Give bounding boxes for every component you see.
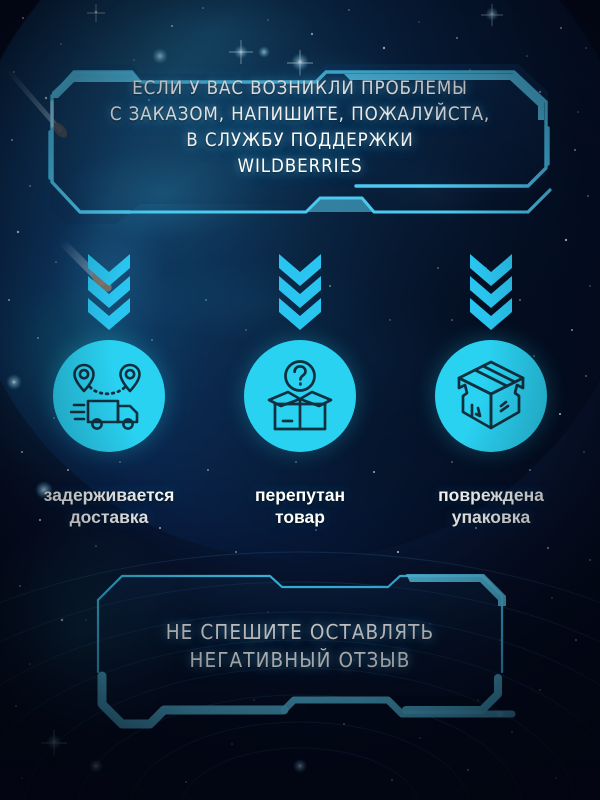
vignette-overlay [0,0,600,800]
infographic-canvas: ЕСЛИ У ВАС ВОЗНИКЛИ ПРОБЛЕМЫ С ЗАКАЗОМ, … [0,0,600,800]
